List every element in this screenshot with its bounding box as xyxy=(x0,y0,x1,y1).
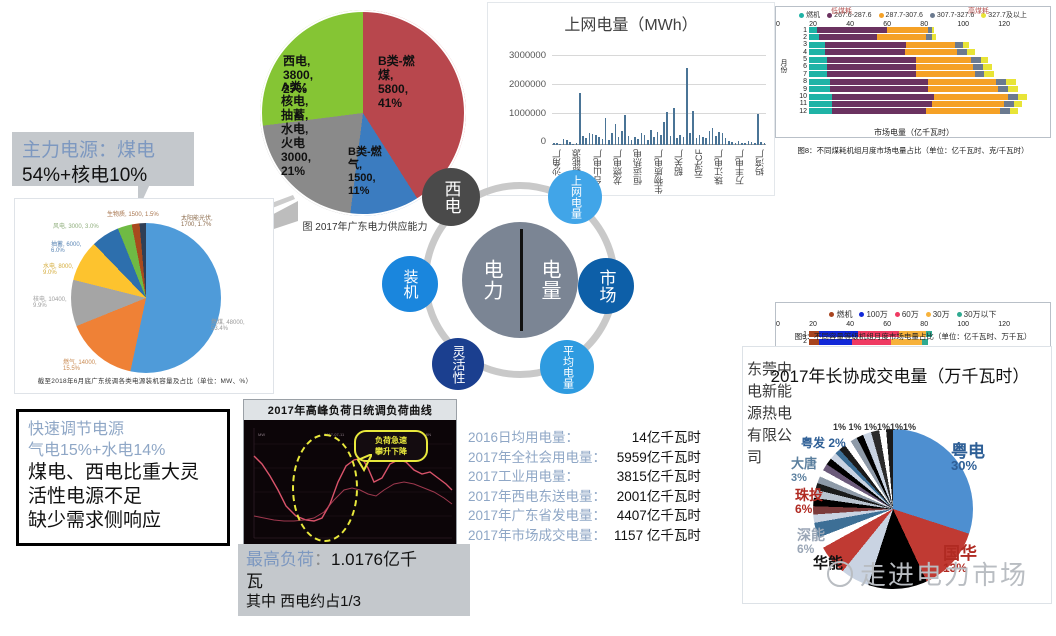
bar-row: 3 xyxy=(792,42,1046,48)
bar xyxy=(637,139,639,145)
y-tick-2000000: 2000000 xyxy=(490,79,546,90)
x-tick: 40 xyxy=(846,321,854,328)
legend-item: 100万 xyxy=(859,309,887,320)
bar xyxy=(618,137,620,145)
supply-pie-label-coal: B类-燃煤,5800,41% xyxy=(378,54,430,110)
bar-segment xyxy=(817,27,887,33)
bar xyxy=(589,133,591,145)
coal-rate-xlabel: 市场电量（亿千瓦时） xyxy=(776,127,1052,138)
bar xyxy=(559,144,561,145)
x-category-label: 珠江电厂 xyxy=(712,149,725,185)
bar xyxy=(683,137,685,145)
bar-segment xyxy=(832,108,926,114)
callout-flexible-sources: 快速调节电源 气电15%+水电14% 煤电、西电比重大灵 活性电源不足 缺少需求… xyxy=(16,409,230,546)
bar-segment xyxy=(1008,86,1018,92)
bar-segment xyxy=(819,34,878,40)
bar-segment xyxy=(971,57,981,63)
stat-row: 2016日均用电量：14亿千瓦时 xyxy=(468,428,701,448)
bar-segment xyxy=(830,79,928,85)
stat-row: 2017年市场成交电量：1157 亿千瓦时 xyxy=(468,526,701,546)
legend-dot-icon xyxy=(799,13,804,18)
legend-dot-icon xyxy=(829,312,834,317)
bar-row: 8 xyxy=(792,79,1046,85)
legend-label: 100万 xyxy=(866,309,887,320)
load-curve-panel: 2017年高峰负荷日统调负荷曲线 MAX MIN MW 2017-07-11 负… xyxy=(243,399,457,545)
bar-row: 1 xyxy=(792,27,1046,33)
bar-segment xyxy=(809,94,832,100)
bar xyxy=(712,128,714,145)
legend-label: 燃机 xyxy=(806,10,820,20)
hub-node-zhuangji[interactable]: 装机 xyxy=(382,256,438,312)
legend-dot-icon xyxy=(879,13,884,18)
x-tick: 0 xyxy=(776,21,780,28)
row-label: 9 xyxy=(792,86,809,93)
bar xyxy=(650,130,652,145)
bar xyxy=(644,135,646,145)
bar xyxy=(722,133,724,145)
legend-item: 30万以下 xyxy=(957,309,997,320)
x-tick: 60 xyxy=(883,321,891,328)
x-tick: 0 xyxy=(776,321,780,328)
bar-segment xyxy=(825,42,907,48)
bar-segment xyxy=(916,71,975,77)
bar-segment xyxy=(957,49,967,55)
bar-segment xyxy=(809,57,827,63)
bar-segment xyxy=(975,71,985,77)
bar-segment xyxy=(928,79,996,85)
bar xyxy=(699,135,701,145)
bar xyxy=(709,131,711,145)
pie-label-datang: 大唐3% xyxy=(791,457,817,485)
stat-key: 2017年市场成交电量： xyxy=(468,526,606,546)
bar-segment xyxy=(932,34,936,40)
bar-segment xyxy=(998,86,1008,92)
bar-segment xyxy=(1018,94,1028,100)
hub-node-zhuangji-label: 装机 xyxy=(403,269,418,299)
legend-item: 燃机 xyxy=(799,10,820,20)
stat-value: 4407亿千瓦时 xyxy=(606,506,701,526)
hub-node-pingjun-label: 平均电量 xyxy=(560,345,575,389)
bar-segment xyxy=(1004,101,1014,107)
legend-label: 30万以下 xyxy=(964,309,997,320)
hub-node-xidian[interactable]: 西电 xyxy=(422,168,480,226)
bar xyxy=(725,138,727,145)
bar xyxy=(692,111,694,145)
stat-value: 5959亿千瓦时 xyxy=(606,448,701,468)
row-label: 11 xyxy=(792,100,809,107)
load-curve-annotation-line1: 负荷急速 xyxy=(375,436,407,445)
long-term-contract-sidetext: 东莞中电新能源热电有限公司 xyxy=(747,359,801,469)
bar-segment xyxy=(809,34,819,40)
bar xyxy=(670,136,672,145)
bar-segment xyxy=(963,42,969,48)
legend-label: 287.7-307.6 xyxy=(886,12,923,19)
online-energy-chart-title: 上网电量（MWh） xyxy=(488,3,774,35)
peak-load-lead: 最高负荷 xyxy=(246,550,314,569)
bar xyxy=(702,137,704,145)
stat-key: 2017年广东省发电量： xyxy=(468,506,606,526)
bar xyxy=(576,143,578,145)
supply-pie-label-gas: B类-燃气,1500,11% xyxy=(348,146,396,198)
x-category-label: 万丰电厂 xyxy=(733,149,746,185)
hub-center-divider xyxy=(520,229,523,331)
peak-load-callout: 最高负荷：1.0176亿千 瓦 其中 西电约占1/3 xyxy=(238,544,470,616)
bar-row: 6 xyxy=(792,64,1046,70)
stat-value: 2001亿千瓦时 xyxy=(606,487,701,507)
bar xyxy=(660,135,662,145)
bar-segment xyxy=(981,57,989,63)
legend-item: 287.7-307.6 xyxy=(879,12,923,19)
row-label: 4 xyxy=(792,49,809,56)
hub-node-linghuo-label: 灵活性 xyxy=(451,345,466,384)
x-category-label: 韶关厂 xyxy=(672,149,685,176)
stat-row: 2017年广东省发电量：4407亿千瓦时 xyxy=(468,506,701,526)
svg-text:MW: MW xyxy=(258,432,265,437)
bar-segment xyxy=(809,101,832,107)
bar xyxy=(621,131,623,145)
bar-segment xyxy=(1008,94,1018,100)
bar-segment xyxy=(905,49,958,55)
bar xyxy=(760,142,762,145)
legend-label: 燃机 xyxy=(836,309,852,320)
pie-label-yuefa: 粤发 2% xyxy=(801,437,846,450)
hub-node-pingjun[interactable]: 平均电量 xyxy=(540,340,594,394)
bar-row: 2 xyxy=(792,34,1046,40)
hub-center-right: 电量 xyxy=(537,259,561,301)
bar-segment xyxy=(832,101,931,107)
bar xyxy=(705,138,707,145)
coal-rate-legend: 燃机267.6-287.6287.7-307.6307.7-327.6327.7… xyxy=(776,7,1050,20)
bar xyxy=(689,133,691,145)
stat-value: 1157 亿千瓦时 xyxy=(606,526,701,546)
stat-key: 2017年西电东送电量： xyxy=(468,487,606,507)
bar xyxy=(653,137,655,145)
bar xyxy=(741,143,743,145)
long-term-contract-panel: 2017年长协成交电量（万千瓦时） 东莞中电新能源热电有限公司 粤电30% 国华… xyxy=(742,346,1052,604)
capacity-pie-label-biomass: 生物质, 1500, 1.5% xyxy=(107,209,159,218)
bar xyxy=(631,140,633,145)
flex-lead1: 快速调节电源 xyxy=(28,419,218,440)
bar xyxy=(676,138,678,145)
bar-row: 10 xyxy=(792,94,1046,100)
pie-label-shenneng: 深能6% xyxy=(797,529,825,556)
capacity-pie-panel: 燃煤, 48000,53.4% 燃气, 14000,15.5% 核电, 1040… xyxy=(14,198,274,394)
bar-segment xyxy=(926,108,1000,114)
bar xyxy=(715,136,717,145)
callout-main-line1: 主力电源：煤电 xyxy=(22,138,184,163)
hub-node-shangwang-label: 上网电量 xyxy=(568,175,583,219)
bar xyxy=(624,115,626,145)
bar-segment xyxy=(809,27,817,33)
bar-segment xyxy=(809,86,830,92)
x-tick: 20 xyxy=(809,321,817,328)
legend-label: 30万 xyxy=(933,309,950,320)
x-tick: 80 xyxy=(920,321,928,328)
capacity-pie-label-gas: 燃气, 14000,15.5% xyxy=(63,357,97,372)
bar-segment xyxy=(830,86,928,92)
bar-segment xyxy=(832,94,933,100)
x-tick: 100 xyxy=(957,321,969,328)
bar-segment xyxy=(809,42,825,48)
hub-node-shangwang[interactable]: 上网电量 xyxy=(548,170,602,224)
bar xyxy=(738,141,740,145)
bar-segment xyxy=(906,42,955,48)
bar xyxy=(611,133,613,145)
bar-row: 11 xyxy=(792,101,1046,107)
online-energy-plot xyxy=(552,55,766,145)
bar xyxy=(764,143,766,145)
bar xyxy=(563,139,565,145)
bar xyxy=(595,135,597,145)
capacity-pie-chart xyxy=(71,223,221,373)
bar-segment xyxy=(809,64,827,70)
legend-label: 60万 xyxy=(902,309,919,320)
capacity-pie-caption: 截至2018年6月底广东统调各类电源装机容量及占比（单位：MW、%） xyxy=(21,375,269,385)
y-tick-3000000: 3000000 xyxy=(490,50,546,61)
bar xyxy=(566,140,568,145)
hub-node-linghuo[interactable]: 灵活性 xyxy=(432,338,484,390)
flex-body3: 缺少需求侧响应 xyxy=(28,509,218,533)
bar-segment xyxy=(932,27,934,33)
bar xyxy=(579,93,581,145)
bar xyxy=(754,143,756,145)
peak-load-sep: ： xyxy=(314,550,331,569)
legend-dot-icon xyxy=(926,312,931,317)
bar xyxy=(744,143,746,145)
stat-value: 14亿千瓦时 xyxy=(606,428,701,448)
bar xyxy=(615,124,617,145)
bar xyxy=(572,144,574,145)
callout-main-power: 主力电源：煤电 54%+核电10% xyxy=(12,132,194,186)
bar-segment xyxy=(809,49,825,55)
hub-node-xidian-label: 西电 xyxy=(444,180,459,214)
peak-load-value: 1.0176亿千 xyxy=(331,550,417,569)
bar xyxy=(592,134,594,145)
bar-segment xyxy=(932,101,1004,107)
x-category-label: 云浮CF xyxy=(692,149,705,179)
bar-segment xyxy=(825,49,905,55)
stat-row: 2017工业用电量：3815亿千瓦时 xyxy=(468,467,701,487)
x-category-label: 妈湾厂 xyxy=(753,149,766,176)
bar-segment xyxy=(1000,108,1010,114)
bar-segment xyxy=(827,64,917,70)
bar xyxy=(598,137,600,145)
legend-item: 燃机 xyxy=(829,309,852,320)
bar-segment xyxy=(877,34,926,40)
flex-body2: 活性电源不足 xyxy=(28,485,218,509)
load-curve-title: 2017年高峰负荷日统调负荷曲线 xyxy=(244,400,456,420)
bar-segment xyxy=(955,42,963,48)
bar-row: 5 xyxy=(792,57,1046,63)
bar xyxy=(751,142,753,145)
bar xyxy=(735,143,737,145)
capacity-pie-label-solar: 太阳能光伏,1700, 1.7% xyxy=(181,213,213,228)
row-label: 12 xyxy=(792,108,809,115)
bar-segment xyxy=(887,27,928,33)
peak-load-line2: 其中 西电约占1/3 xyxy=(246,592,462,612)
bar-segment xyxy=(983,64,993,70)
hub-center-left: 电力 xyxy=(479,259,503,301)
watermark: 走进电力市场 xyxy=(827,555,1028,592)
bar-segment xyxy=(916,64,973,70)
bar-segment xyxy=(996,79,1006,85)
bar-segment xyxy=(809,79,830,85)
bar-segment xyxy=(973,64,983,70)
bar xyxy=(663,122,665,145)
stat-row: 2017年全社会用电量：5959亿千瓦时 xyxy=(468,448,701,468)
bar-segment xyxy=(934,94,1008,100)
bar xyxy=(679,135,681,145)
capacity-pie-label-pumped: 抽蓄, 6000,6.0% xyxy=(51,239,81,254)
bar-segment xyxy=(1010,108,1018,114)
legend-item: 60万 xyxy=(895,309,919,320)
row-label: 10 xyxy=(792,93,809,100)
bar xyxy=(757,114,759,145)
bar-row: 12 xyxy=(792,108,1046,114)
bar xyxy=(634,137,636,145)
bar-segment xyxy=(809,108,832,114)
y-tick-1000000: 1000000 xyxy=(490,108,546,119)
capacity-pie-label-coal: 燃煤, 48000,53.4% xyxy=(211,317,245,332)
row-label: 7 xyxy=(792,71,809,78)
capacity-class-xaxis: 020406080100120 xyxy=(776,321,1010,328)
bar xyxy=(686,68,688,145)
legend-dot-icon xyxy=(859,312,864,317)
load-curve-plot: MAX MIN MW 2017-07-11 负荷急速 攀升下降 xyxy=(244,420,456,544)
x-tick: 120 xyxy=(998,321,1010,328)
bar xyxy=(582,136,584,145)
bar-segment xyxy=(928,86,998,92)
bar xyxy=(696,138,698,145)
capacity-class-legend: 燃机100万60万30万30万以下 xyxy=(776,303,1050,320)
bar-segment xyxy=(1014,101,1022,107)
hub-node-shichang-label: 市场 xyxy=(599,269,614,303)
bar-segment xyxy=(916,57,971,63)
bar xyxy=(666,112,668,145)
flex-lead2: 气电15%+水电14% xyxy=(28,440,218,461)
bar-segment xyxy=(827,71,917,77)
stat-key: 2017工业用电量： xyxy=(468,467,606,487)
bar-segment xyxy=(1006,79,1016,85)
row-label: 6 xyxy=(792,63,809,70)
supply-pie-label-classa: A类：核电,抽蓄,水电,火电3000,21% xyxy=(281,80,337,178)
bar-segment xyxy=(809,71,827,77)
bar-segment xyxy=(827,57,917,63)
long-term-contract-title: 2017年长协成交电量（万千瓦时） xyxy=(769,365,1031,389)
bar xyxy=(731,142,733,145)
pie-label-misc: 1% 1% 1%1%1%1% xyxy=(833,421,916,434)
coal-rate-chart-panel: 低煤耗 高煤耗 燃机267.6-287.6287.7-307.6307.7-32… xyxy=(775,6,1051,138)
stat-key: 2017年全社会用电量： xyxy=(468,448,606,468)
stat-value: 3815亿千瓦时 xyxy=(606,467,701,487)
capacity-class-caption: 图9：不同容量等级机组月度市场电量占比（单位：亿千瓦时、万千瓦） xyxy=(775,331,1051,342)
online-energy-chart-panel: 上网电量（MWh） 3000000 2000000 1000000 0 沙角厂粤… xyxy=(487,2,775,196)
coal-rate-annotation-low: 低煤耗 xyxy=(831,6,852,16)
capacity-pie-label-wind: 风电, 3000, 3.0% xyxy=(53,221,99,230)
bar xyxy=(602,139,604,145)
stat-row: 2017年西电东送电量：2001亿千瓦时 xyxy=(468,487,701,507)
row-label: 8 xyxy=(792,78,809,85)
legend-dot-icon xyxy=(957,312,962,317)
legend-dot-icon xyxy=(895,312,900,317)
pie-label-yuedian: 粤电30% xyxy=(951,445,985,472)
bar-row: 4 xyxy=(792,49,1046,55)
hub-center: 电力 电量 xyxy=(462,222,578,338)
bar xyxy=(628,136,630,145)
row-label: 1 xyxy=(792,27,809,34)
coal-rate-ylabel: 月份 xyxy=(778,59,788,73)
capacity-pie-label-hydro: 水电, 8000,9.0% xyxy=(43,261,73,276)
bar xyxy=(608,140,610,145)
hub-node-shichang[interactable]: 市场 xyxy=(578,258,634,314)
bar xyxy=(728,141,730,145)
bar-row: 7 xyxy=(792,71,1046,77)
watermark-text: 走进电力市场 xyxy=(860,555,1028,592)
coal-rate-annotation-high: 高煤耗 xyxy=(968,6,989,16)
bar xyxy=(569,142,571,145)
bar xyxy=(657,132,659,145)
legend-label: 327.7及以上 xyxy=(988,10,1027,20)
coal-rate-bars: 123456789101112 xyxy=(792,27,1046,116)
coal-rate-caption: 图8：不同煤耗机组月度市场电量占比（单位：亿千瓦时、克/千瓦时） xyxy=(775,145,1051,156)
legend-item: 30万 xyxy=(926,309,950,320)
load-curve-highlight-ellipse xyxy=(292,434,358,542)
x-category-label: 生物质电厂 xyxy=(652,149,665,194)
row-label: 5 xyxy=(792,56,809,63)
bar-row: 9 xyxy=(792,86,1046,92)
hub-diagram: 电力 电量 西电 上网电量 市场 平均电量 灵活性 装机 xyxy=(400,168,638,400)
bar xyxy=(556,143,558,145)
row-label: 3 xyxy=(792,41,809,48)
bar xyxy=(647,140,649,145)
bar-segment xyxy=(967,49,975,55)
row-label: 2 xyxy=(792,34,809,41)
energy-stats-list: 2016日均用电量：14亿千瓦时2017年全社会用电量：5959亿千瓦时2017… xyxy=(468,428,733,545)
bar xyxy=(605,118,607,145)
bar xyxy=(748,141,750,145)
callout-main-line2: 54%+核电10% xyxy=(22,163,184,188)
peak-load-value2: 瓦 xyxy=(246,571,462,592)
bar-segment xyxy=(984,71,994,77)
pie-label-zhutou: 珠投6% xyxy=(795,489,823,516)
legend-dot-icon xyxy=(930,13,935,18)
stat-key: 2016日均用电量： xyxy=(468,428,606,448)
bar xyxy=(673,108,675,145)
bar xyxy=(585,138,587,145)
watermark-logo-icon xyxy=(827,561,853,587)
bar xyxy=(553,143,555,145)
y-tick-0: 0 xyxy=(490,136,546,147)
capacity-pie-label-nuclear: 核电, 10400,9.9% xyxy=(33,294,67,309)
flex-body1: 煤电、西电比重大灵 xyxy=(28,461,218,485)
bar xyxy=(641,133,643,145)
bar xyxy=(718,132,720,145)
load-curve-annotation-line2: 攀升下降 xyxy=(375,447,407,456)
